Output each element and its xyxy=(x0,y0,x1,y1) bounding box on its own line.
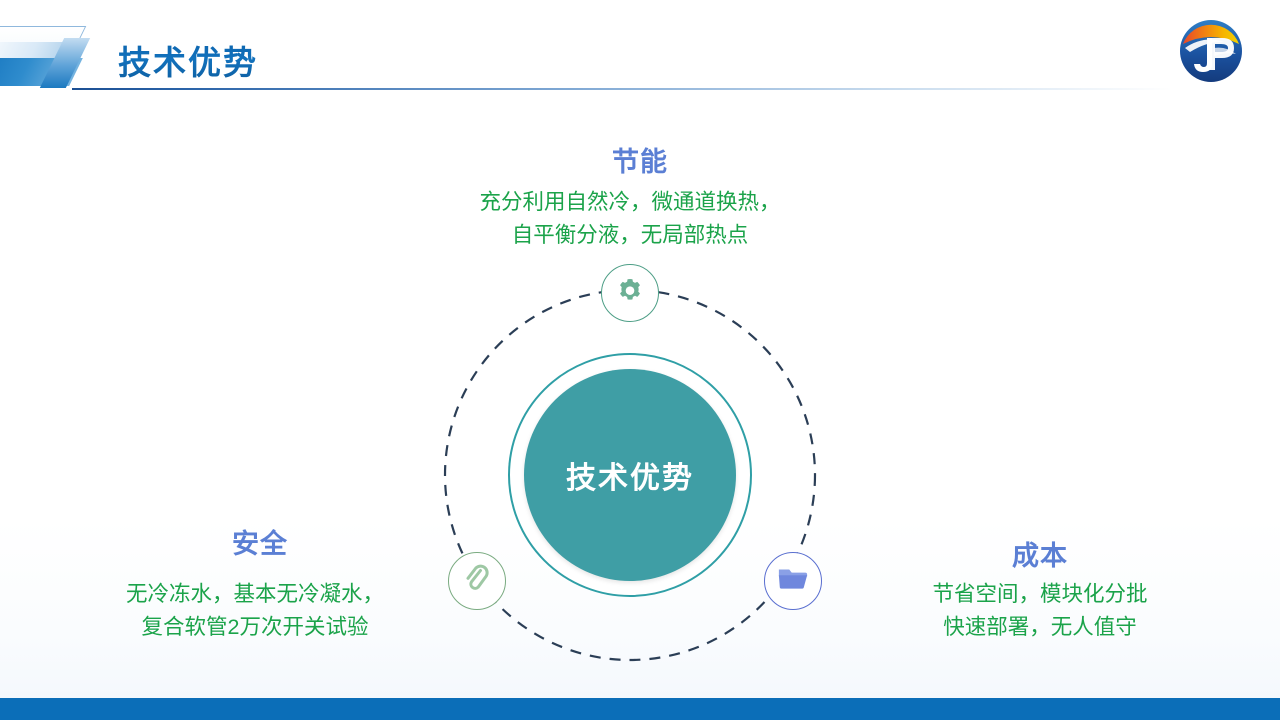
branch-body-energy: 充分利用自然冷，微通道换热， 自平衡分液，无局部热点 xyxy=(330,186,930,253)
branch-body-safety-line-2: 复合软管2万次开关试验 xyxy=(20,611,490,644)
branch-body-energy-line-1: 充分利用自然冷，微通道换热， xyxy=(330,186,930,219)
header-divider xyxy=(72,88,1172,90)
slide-header: 技术优势 xyxy=(0,0,1280,92)
branch-heading-energy: 节能 xyxy=(0,140,1280,179)
presentation-slide: 技术优势 xyxy=(0,0,1280,720)
branch-body-safety: 无冷冻水，基本无冷凝水， 复合软管2万次开关试验 xyxy=(20,578,490,645)
branch-body-cost-line-2: 快速部署，无人值守 xyxy=(810,611,1270,644)
branch-body-cost: 节省空间，模块化分批 快速部署，无人值守 xyxy=(810,578,1270,645)
company-logo xyxy=(1178,18,1244,84)
diagram-center-hub: 技术优势 xyxy=(508,353,752,597)
diagram-center-hub-fill: 技术优势 xyxy=(524,369,736,581)
gear-icon xyxy=(615,276,645,311)
branch-heading-safety: 安全 xyxy=(60,522,460,561)
footer-bar xyxy=(0,698,1280,720)
branch-body-cost-line-1: 节省空间，模块化分批 xyxy=(810,578,1270,611)
folder-icon xyxy=(777,565,809,597)
branch-heading-cost: 成本 xyxy=(840,534,1240,573)
diagram-node-energy[interactable] xyxy=(601,264,659,322)
branch-body-energy-line-2: 自平衡分液，无局部热点 xyxy=(330,219,930,252)
page-title: 技术优势 xyxy=(118,36,258,84)
branch-body-safety-line-1: 无冷冻水，基本无冷凝水， xyxy=(20,578,490,611)
diagram-center-label: 技术优势 xyxy=(566,453,694,497)
